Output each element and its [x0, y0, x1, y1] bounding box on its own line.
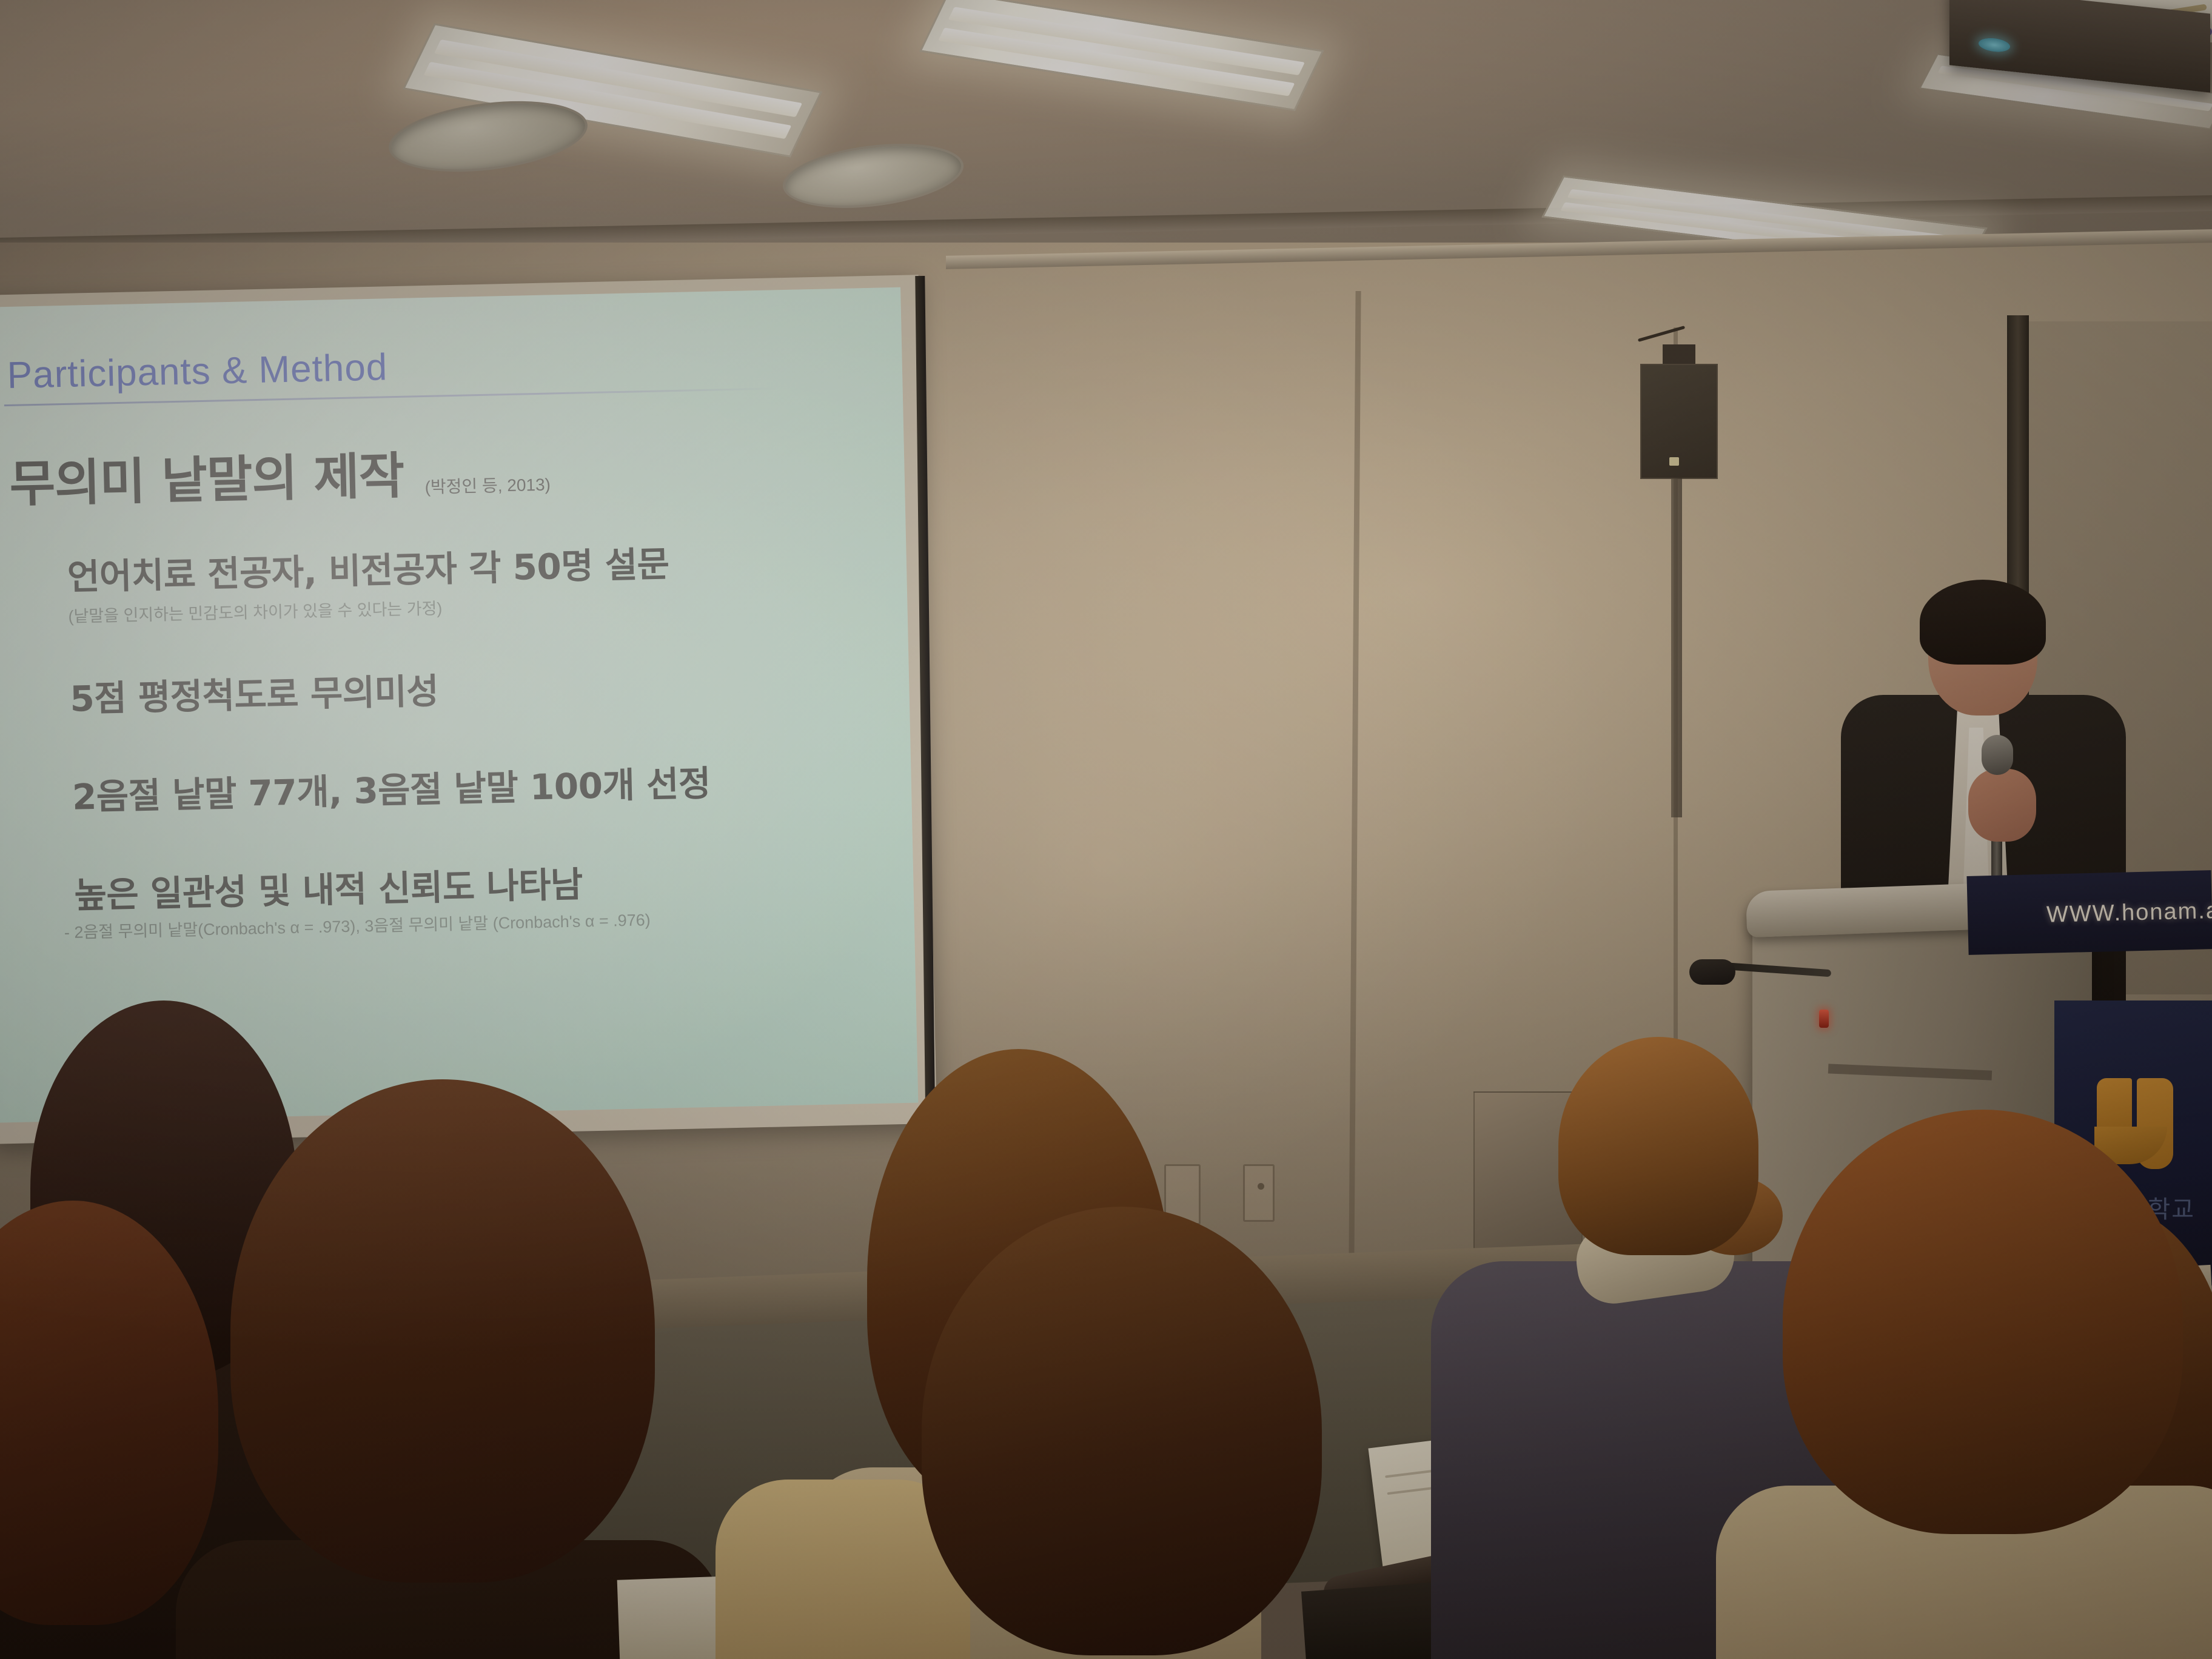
- audience-member: [1783, 1110, 2207, 1659]
- slide-title-row: 무의미 낱말의 제작 (박정인 등, 2013): [8, 425, 862, 516]
- audience-hair: [0, 1201, 218, 1625]
- podium-url-text: WWW.honam.a: [2046, 898, 2212, 928]
- gooseneck-microphone-icon[interactable]: [1689, 959, 1735, 985]
- audience-hair: [230, 1079, 655, 1583]
- slide-bullet-text: 2음절 낱말 77개, 3음절 낱말 100개 선정: [72, 751, 870, 820]
- presenter-hair: [1920, 580, 2046, 665]
- podium-power-led-icon: [1819, 1010, 1829, 1028]
- audience-hair: [922, 1207, 1322, 1655]
- audience-hair: [1558, 1037, 1758, 1255]
- speaker-led-icon: [1669, 457, 1679, 466]
- audience-member: [0, 1201, 243, 1659]
- presentation-slide: Participants & Method 무의미 낱말의 제작 (박정인 등,…: [0, 287, 918, 1123]
- slide-header-title: Participants & Method: [7, 335, 860, 397]
- audience-member: [922, 1207, 1334, 1659]
- projector-lens-icon: [1979, 36, 2010, 53]
- projection-screen-surface: Participants & Method 무의미 낱말의 제작 (박정인 등,…: [0, 287, 918, 1123]
- slide-bullet: 5점 평정척도로 무의미성: [13, 653, 866, 723]
- slide-bullet: 2음절 낱말 77개, 3음절 낱말 100개 선정: [16, 751, 869, 821]
- audience-hair: [1783, 1110, 2183, 1534]
- slide-citation: (박정인 등, 2013): [424, 471, 551, 507]
- switch-screw-icon: [1258, 1183, 1264, 1190]
- audience-member: [230, 1079, 667, 1659]
- slide-title: 무의미 낱말의 제작: [8, 435, 404, 516]
- microphone-icon[interactable]: [1982, 735, 2013, 775]
- podium-url-banner: WWW.honam.a: [1966, 870, 2212, 955]
- lecture-hall-photo: Participants & Method 무의미 낱말의 제작 (박정인 등,…: [0, 0, 2212, 1659]
- speaker-pole: [1671, 478, 1682, 817]
- slide-bullet: 높은 일관성 및 내적 신뢰도 나타남 - 2음절 무의미 낱말(Cronbac…: [18, 850, 872, 944]
- presenter-hand: [1968, 769, 2036, 842]
- slide-bullet: 언어치료 전공자, 비전공자 각 50명 설문 (낱말을 인지하는 민감도의 차…: [11, 531, 865, 628]
- slide-bullet-text: 5점 평정척도로 무의미성: [69, 653, 867, 722]
- wall-speaker-icon: [1640, 364, 1718, 479]
